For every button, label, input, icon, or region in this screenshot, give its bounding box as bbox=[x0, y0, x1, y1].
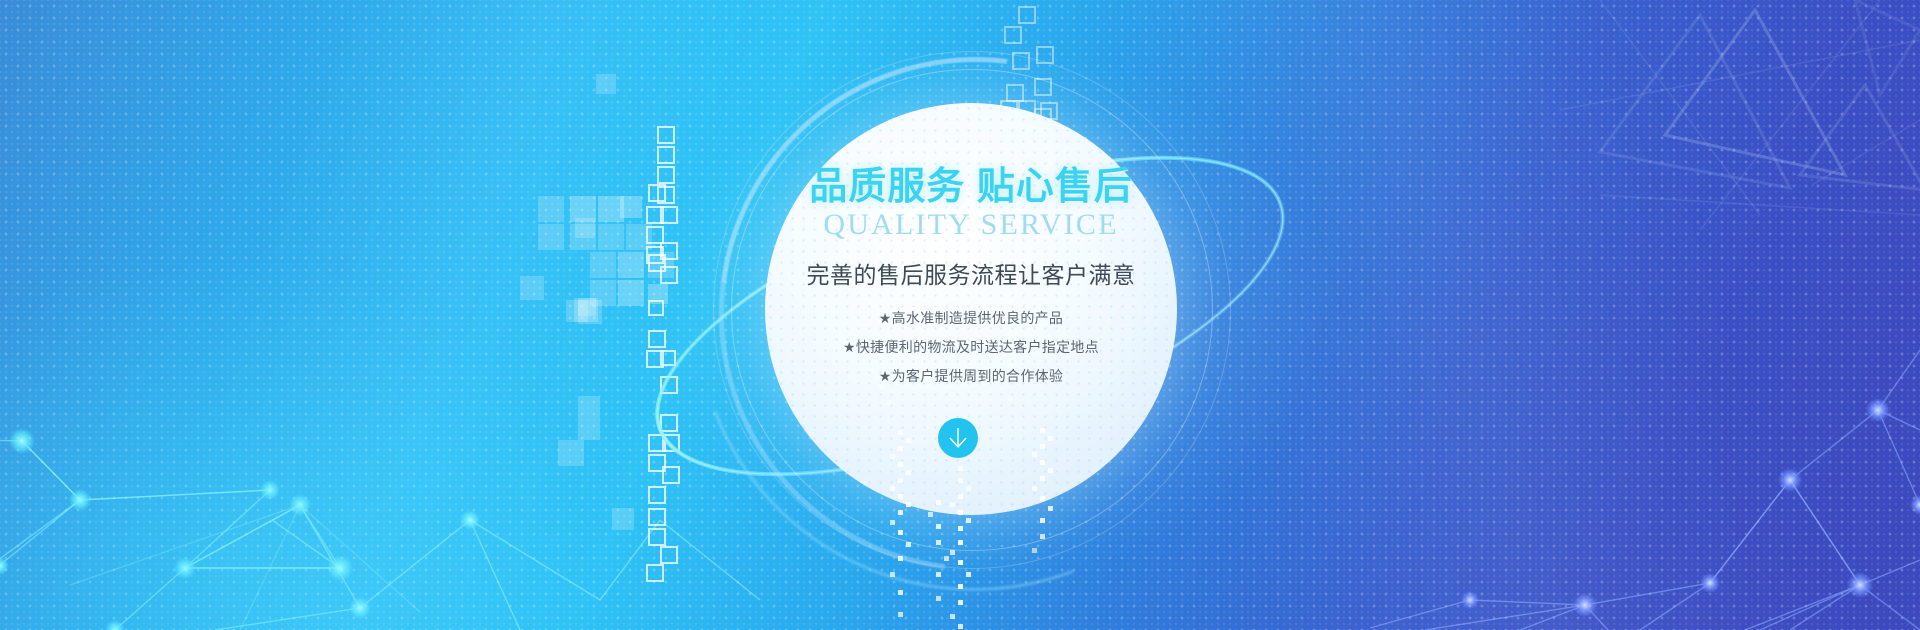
outline-square bbox=[657, 186, 675, 204]
network-nodes-left bbox=[0, 428, 480, 630]
outline-square bbox=[648, 254, 666, 272]
mosaic-square bbox=[578, 300, 602, 324]
mosaic-square bbox=[598, 196, 624, 222]
feature-bullet-list: ★高水准制造提供优良的产品 ★快捷便利的物流及时送达客户指定地点 ★为客户提供周… bbox=[843, 308, 1099, 386]
mosaic-square bbox=[590, 252, 616, 278]
outline-square bbox=[648, 508, 666, 526]
mosaic-square bbox=[626, 224, 652, 250]
mosaic-square bbox=[558, 440, 584, 466]
outline-square bbox=[646, 226, 664, 244]
outline-square bbox=[648, 300, 664, 316]
mosaic-square bbox=[620, 196, 642, 218]
outline-square bbox=[646, 246, 664, 264]
mosaic-square bbox=[570, 196, 596, 222]
outline-square bbox=[648, 184, 666, 202]
mosaic-square bbox=[578, 298, 596, 316]
page-title: 品质服务 贴心售后 bbox=[809, 155, 1133, 210]
mosaic-square bbox=[574, 298, 598, 322]
network-lines-right bbox=[1370, 350, 1920, 630]
outline-square bbox=[662, 434, 680, 452]
mosaic-square bbox=[575, 218, 595, 238]
mosaic-square bbox=[566, 300, 588, 322]
outline-square bbox=[657, 126, 675, 144]
outline-square bbox=[660, 414, 678, 432]
mosaic-square bbox=[612, 508, 634, 530]
outline-square bbox=[648, 434, 666, 452]
mosaic-square bbox=[578, 396, 600, 418]
scroll-down-button[interactable] bbox=[938, 418, 978, 458]
mosaic-square bbox=[648, 284, 668, 304]
hero-subtitle: 完善的售后服务流程让客户满意 bbox=[807, 256, 1136, 290]
list-item: ★为客户提供周到的合作体验 bbox=[843, 366, 1099, 386]
list-item: ★高水准制造提供优良的产品 bbox=[843, 308, 1099, 328]
glow-bottom-left bbox=[0, 250, 600, 630]
outline-square bbox=[646, 206, 664, 224]
outline-square bbox=[657, 146, 675, 164]
mosaic-square bbox=[538, 196, 564, 222]
outline-square bbox=[660, 350, 676, 366]
mosaic-square bbox=[596, 74, 616, 94]
list-item: ★快捷便利的物流及时送达客户指定地点 bbox=[843, 337, 1099, 357]
arrow-down-icon bbox=[947, 426, 969, 450]
outline-square bbox=[648, 330, 666, 348]
network-nodes-right bbox=[1461, 398, 1920, 617]
service-banner: 品质服务 贴心售后 QUALITY SERVICE 完善的售后服务流程让客户满意… bbox=[0, 0, 1920, 630]
page-subtitle-en: QUALITY SERVICE bbox=[823, 208, 1118, 242]
network-lines-left bbox=[0, 440, 760, 630]
mosaic-square bbox=[578, 418, 600, 440]
outline-square bbox=[646, 564, 664, 582]
outline-square bbox=[662, 466, 680, 484]
outline-square bbox=[648, 454, 666, 472]
mosaic-square bbox=[618, 280, 644, 306]
outline-square bbox=[657, 166, 675, 184]
outline-square bbox=[648, 486, 666, 504]
outline-square bbox=[660, 242, 678, 260]
outline-square bbox=[1018, 6, 1036, 24]
outline-square bbox=[660, 376, 678, 394]
network-lines-mid bbox=[70, 505, 420, 630]
outline-square bbox=[660, 266, 678, 284]
mosaic-square bbox=[590, 280, 616, 306]
outline-square bbox=[660, 546, 678, 564]
triangle-decor-group bbox=[1600, 0, 1920, 190]
mosaic-square bbox=[648, 252, 674, 278]
mosaic-square bbox=[520, 276, 544, 300]
outline-square bbox=[648, 528, 666, 546]
mosaic-square bbox=[618, 252, 644, 278]
mosaic-square bbox=[538, 224, 564, 250]
outline-square bbox=[660, 206, 678, 224]
mosaic-square bbox=[598, 224, 624, 250]
mosaic-square bbox=[570, 224, 596, 250]
outline-square bbox=[646, 350, 664, 368]
